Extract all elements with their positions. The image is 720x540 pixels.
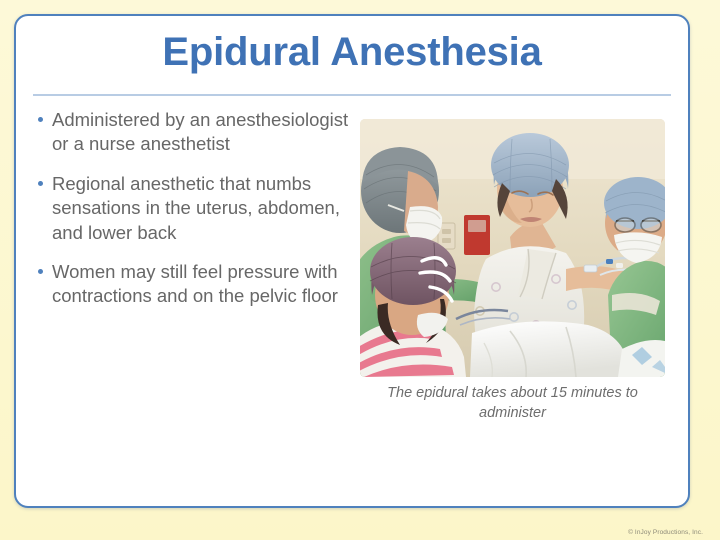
list-item: Women may still feel pressure with contr… [36,260,356,309]
list-item: Regional anesthetic that numbs sensation… [36,172,356,245]
photo-caption: The epidural takes about 15 minutes to a… [360,384,665,423]
page-title: Epidural Anesthesia [16,31,688,74]
bullet-point-icon [36,260,52,274]
list-item-text: Administered by an anesthesiologist or a… [52,108,356,157]
copyright-notice: © InJoy Productions, Inc. [628,529,703,536]
list-item: Administered by an anesthesiologist or a… [36,108,356,157]
title-divider [33,94,671,96]
slide-card: Epidural Anesthesia Administered by an a… [14,14,690,508]
bullet-point-icon [36,172,52,186]
bullet-point-icon [36,108,52,122]
bullet-list: Administered by an anesthesiologist or a… [36,108,356,324]
list-item-text: Women may still feel pressure with contr… [52,260,356,309]
list-item-text: Regional anesthetic that numbs sensation… [52,172,356,245]
epidural-procedure-photo [360,119,665,377]
